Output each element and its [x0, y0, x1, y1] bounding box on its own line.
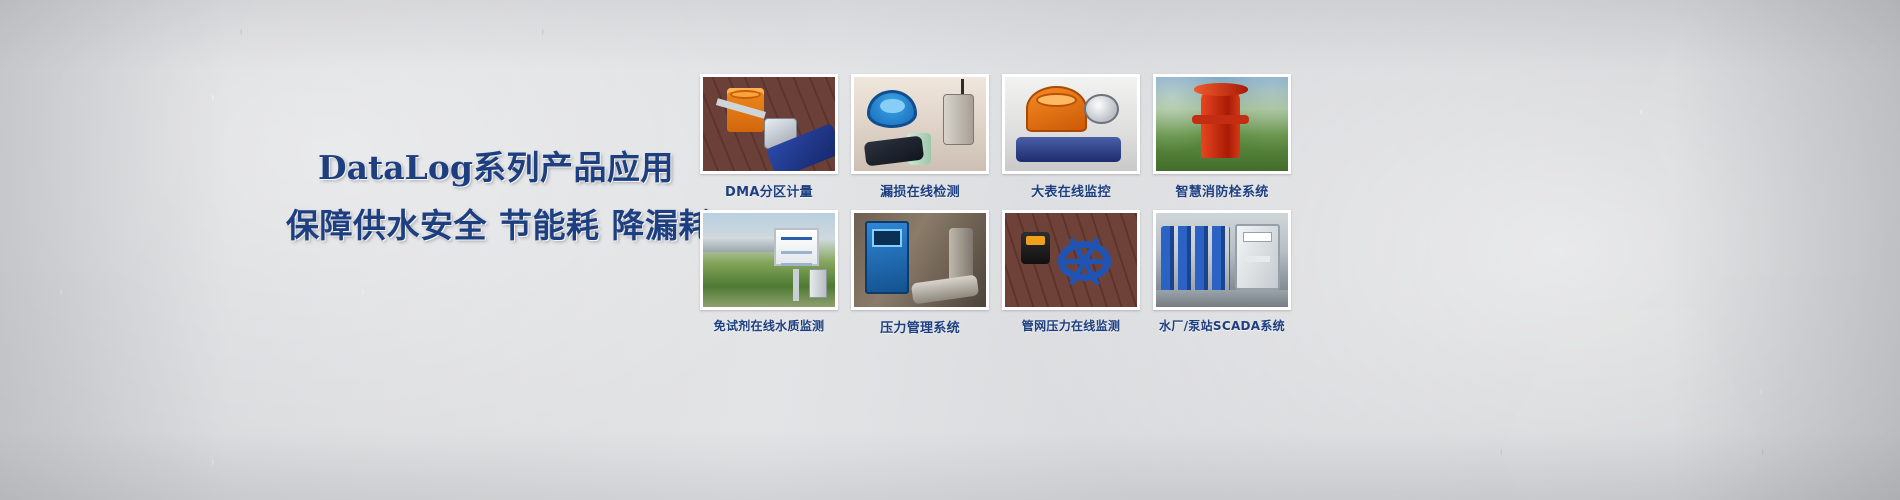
product-caption: 水厂/泵站SCADA系统 [1153, 317, 1291, 334]
product-application-banner: DataLog系列产品应用 保障供水安全 节能耗 降漏耗 DMA分区计量 漏损在… [0, 0, 1900, 500]
dma-metering-thumbnail [703, 77, 835, 171]
product-card-smart-hydrant[interactable]: 智慧消防栓系统 [1153, 74, 1291, 200]
product-caption: DMA分区计量 [700, 181, 838, 200]
network-pressure-monitoring-thumbnail [1005, 213, 1137, 307]
product-thumbnail-grid: DMA分区计量 漏损在线检测 大表在线监控 [700, 74, 1291, 336]
thumbnail-frame[interactable] [1002, 210, 1140, 310]
product-caption: 压力管理系统 [851, 317, 989, 336]
reagent-free-water-quality-thumbnail [703, 213, 835, 307]
product-caption: 漏损在线检测 [851, 181, 989, 200]
leak-detection-thumbnail [854, 77, 986, 171]
product-caption: 智慧消防栓系统 [1153, 181, 1291, 200]
thumbnail-frame[interactable] [851, 74, 989, 174]
large-meter-monitoring-thumbnail [1005, 77, 1137, 171]
product-caption: 管网压力在线监测 [1002, 317, 1140, 334]
pressure-management-thumbnail [854, 213, 986, 307]
product-caption: 免试剂在线水质监测 [700, 317, 838, 334]
product-card-scada-system[interactable]: 水厂/泵站SCADA系统 [1153, 210, 1291, 336]
product-card-leak-detection[interactable]: 漏损在线检测 [851, 74, 989, 200]
product-card-pressure-management[interactable]: 压力管理系统 [851, 210, 989, 336]
headline-line-1: DataLog系列产品应用 [286, 148, 706, 188]
product-card-network-pressure[interactable]: 管网压力在线监测 [1002, 210, 1140, 336]
thumbnail-frame[interactable] [1002, 74, 1140, 174]
thumbnail-frame[interactable] [851, 210, 989, 310]
headline-line-2: 保障供水安全 节能耗 降漏耗 [286, 206, 706, 246]
thumbnail-frame[interactable] [1153, 74, 1291, 174]
product-card-dma-metering[interactable]: DMA分区计量 [700, 74, 838, 200]
scada-system-thumbnail [1156, 213, 1288, 307]
thumbnail-frame[interactable] [700, 74, 838, 174]
headline-line-1-cjk: 系列产品应用 [473, 148, 674, 187]
product-caption: 大表在线监控 [1002, 181, 1140, 200]
thumbnail-frame[interactable] [1153, 210, 1291, 310]
product-card-large-meter-monitoring[interactable]: 大表在线监控 [1002, 74, 1140, 200]
headline-brand-text: DataLog [318, 148, 473, 187]
product-card-water-quality[interactable]: 免试剂在线水质监测 [700, 210, 838, 336]
banner-headline: DataLog系列产品应用 保障供水安全 节能耗 降漏耗 [286, 148, 706, 246]
smart-hydrant-thumbnail [1156, 77, 1288, 171]
thumbnail-frame[interactable] [700, 210, 838, 310]
